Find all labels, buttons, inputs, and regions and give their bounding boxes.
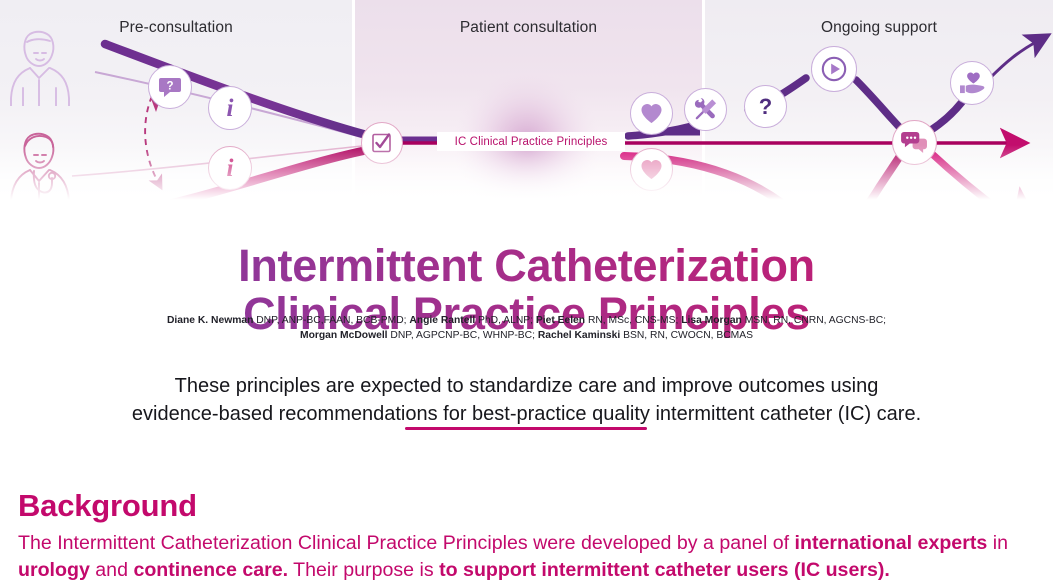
text-run: DNP, AGPCNP-BC, WHNP-BC; (388, 330, 538, 341)
phase-label-ongoing-support: Ongoing support (705, 19, 1053, 37)
text-run: BSN, RN, CWOCN, BCMAS (620, 330, 753, 341)
info-icon-lower[interactable]: i (208, 146, 252, 190)
text-run-bold: international experts (795, 532, 988, 554)
wrench-screwdriver-glyph (693, 97, 718, 122)
heart-glyph-upper (640, 103, 663, 124)
info-icon-upper[interactable]: i (208, 86, 252, 130)
text-run: MSN, RN, CNRN, AGCNS-BC; (742, 315, 886, 326)
chat-icon[interactable] (892, 120, 937, 165)
text-run: RN, MSc, CNS-MS; (585, 315, 681, 326)
question-glyph: ? (759, 96, 772, 118)
heart-icon-upper[interactable] (630, 92, 673, 135)
tools-icon[interactable] (684, 88, 727, 131)
question-bubble-glyph: ? (157, 74, 183, 100)
text-run: Their purpose is (288, 559, 439, 581)
journey-banner: ? i i IC Clinical Practice Principles (0, 0, 1053, 215)
author-credits: Diane K. Newman DNP, ANP-BC,FAAN, BCB-PM… (90, 313, 963, 343)
clinician-figure-icon (8, 128, 74, 214)
text-run-bold: to support intermittent catheter users (… (439, 559, 890, 581)
background-heading: Background (18, 488, 197, 524)
text-run-bold: Piet Eelen (536, 315, 585, 326)
hand-heart-glyph (959, 71, 986, 95)
info-glyph-lower: i (227, 156, 234, 181)
text-run-bold: continence care. (133, 559, 288, 581)
ic-principles-label: IC Clinical Practice Principles (455, 136, 608, 148)
text-run-bold: Rachel Kaminski (538, 330, 620, 341)
phase-label-pre-consultation: Pre-consultation (0, 19, 352, 37)
text-run-bold: Lisa Morgan (681, 315, 742, 326)
phase-label-patient-consultation: Patient consultation (355, 19, 702, 37)
heart-icon-lower[interactable] (630, 148, 673, 191)
text-run-bold: urology (18, 559, 90, 581)
text-run: in (987, 532, 1008, 554)
section-divider (405, 427, 647, 430)
text-run: PhD, ALNP; (475, 315, 536, 326)
text-run-bold: Angie Rantell (409, 315, 475, 326)
svg-text:?: ? (166, 81, 173, 93)
speech-bubbles-glyph (901, 131, 928, 154)
question-bubble-icon[interactable]: ? (148, 65, 192, 109)
info-glyph-upper: i (227, 96, 234, 121)
text-run: DNP, ANP-BC,FAAN, BCB-PMD; (253, 315, 409, 326)
page-subtitle-line-1: These principles are expected to standar… (175, 375, 879, 397)
play-glyph (821, 56, 847, 82)
hand-heart-icon[interactable] (950, 61, 994, 105)
checklist-icon[interactable] (361, 122, 403, 164)
patient-figure-icon (8, 26, 74, 106)
text-run: and (90, 559, 134, 581)
page-subtitle: These principles are expected to standar… (40, 372, 1013, 428)
heart-glyph-lower (640, 159, 663, 180)
checkbox-glyph (371, 132, 393, 154)
question-icon[interactable]: ? (744, 85, 787, 128)
text-run: The Intermittent Catheterization Clinica… (18, 532, 795, 554)
author-credits-line-2: Morgan McDowell DNP, AGPCNP-BC, WHNP-BC;… (90, 328, 963, 343)
play-icon[interactable] (811, 46, 857, 92)
background-body: The Intermittent Catheterization Clinica… (18, 530, 1008, 584)
text-run-bold: Morgan McDowell (300, 330, 388, 341)
author-credits-line-1: Diane K. Newman DNP, ANP-BC,FAAN, BCB-PM… (90, 313, 963, 328)
ic-principles-pill: IC Clinical Practice Principles (437, 132, 625, 151)
page-title-line-1: Intermittent Catheterization (238, 240, 815, 291)
text-run-bold: Diane K. Newman (167, 315, 253, 326)
poster-page: ? i i IC Clinical Practice Principles (0, 0, 1053, 588)
page-subtitle-line-2: evidence-based recommendations for best-… (132, 403, 921, 425)
